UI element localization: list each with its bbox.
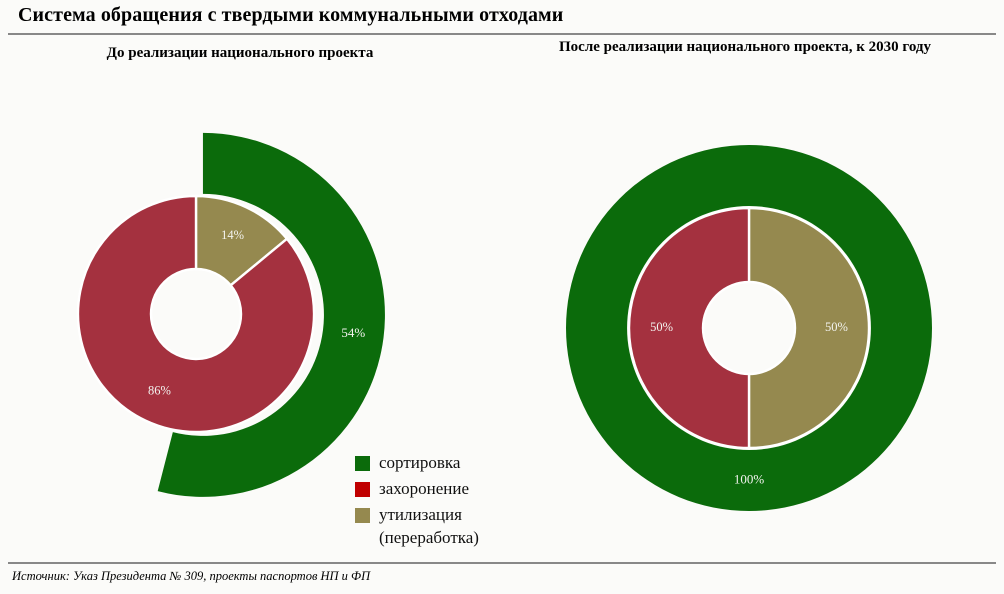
legend-item-recycling: утилизация (переработка)	[355, 504, 615, 550]
source-note: Источник: Указ Президента № 309, проекты…	[12, 569, 370, 584]
inner-slice-label-1: 50%	[650, 320, 673, 334]
outer-slice-label-0: 54%	[341, 325, 365, 340]
inner-slice-label-0: 14%	[221, 228, 244, 242]
chart-page: Система обращения с твердыми коммунальны…	[0, 0, 1004, 594]
legend-item-landfill: захоронение	[355, 478, 615, 501]
legend-label-sorting: сортировка	[379, 452, 460, 475]
outer-slice-label-0: 100%	[734, 471, 765, 486]
footer-divider	[8, 562, 996, 564]
legend-swatch-recycling	[355, 508, 370, 523]
legend-label-recycling: утилизация (переработка)	[379, 504, 479, 550]
right-panel-subtitle: После реализации национального проекта, …	[500, 38, 990, 57]
legend-swatch-landfill	[355, 482, 370, 497]
page-title: Система обращения с твердыми коммунальны…	[18, 4, 563, 27]
legend-label-landfill: захоронение	[379, 478, 469, 501]
legend: сортировка захоронение утилизация (перер…	[355, 452, 615, 553]
inner-slice-label-1: 86%	[148, 384, 171, 398]
legend-item-sorting: сортировка	[355, 452, 615, 475]
left-panel-subtitle: До реализации национального проекта	[20, 44, 460, 63]
outer-slice-0	[566, 145, 932, 511]
title-divider	[8, 33, 996, 35]
legend-swatch-sorting	[355, 456, 370, 471]
inner-slice-label-0: 50%	[825, 320, 848, 334]
